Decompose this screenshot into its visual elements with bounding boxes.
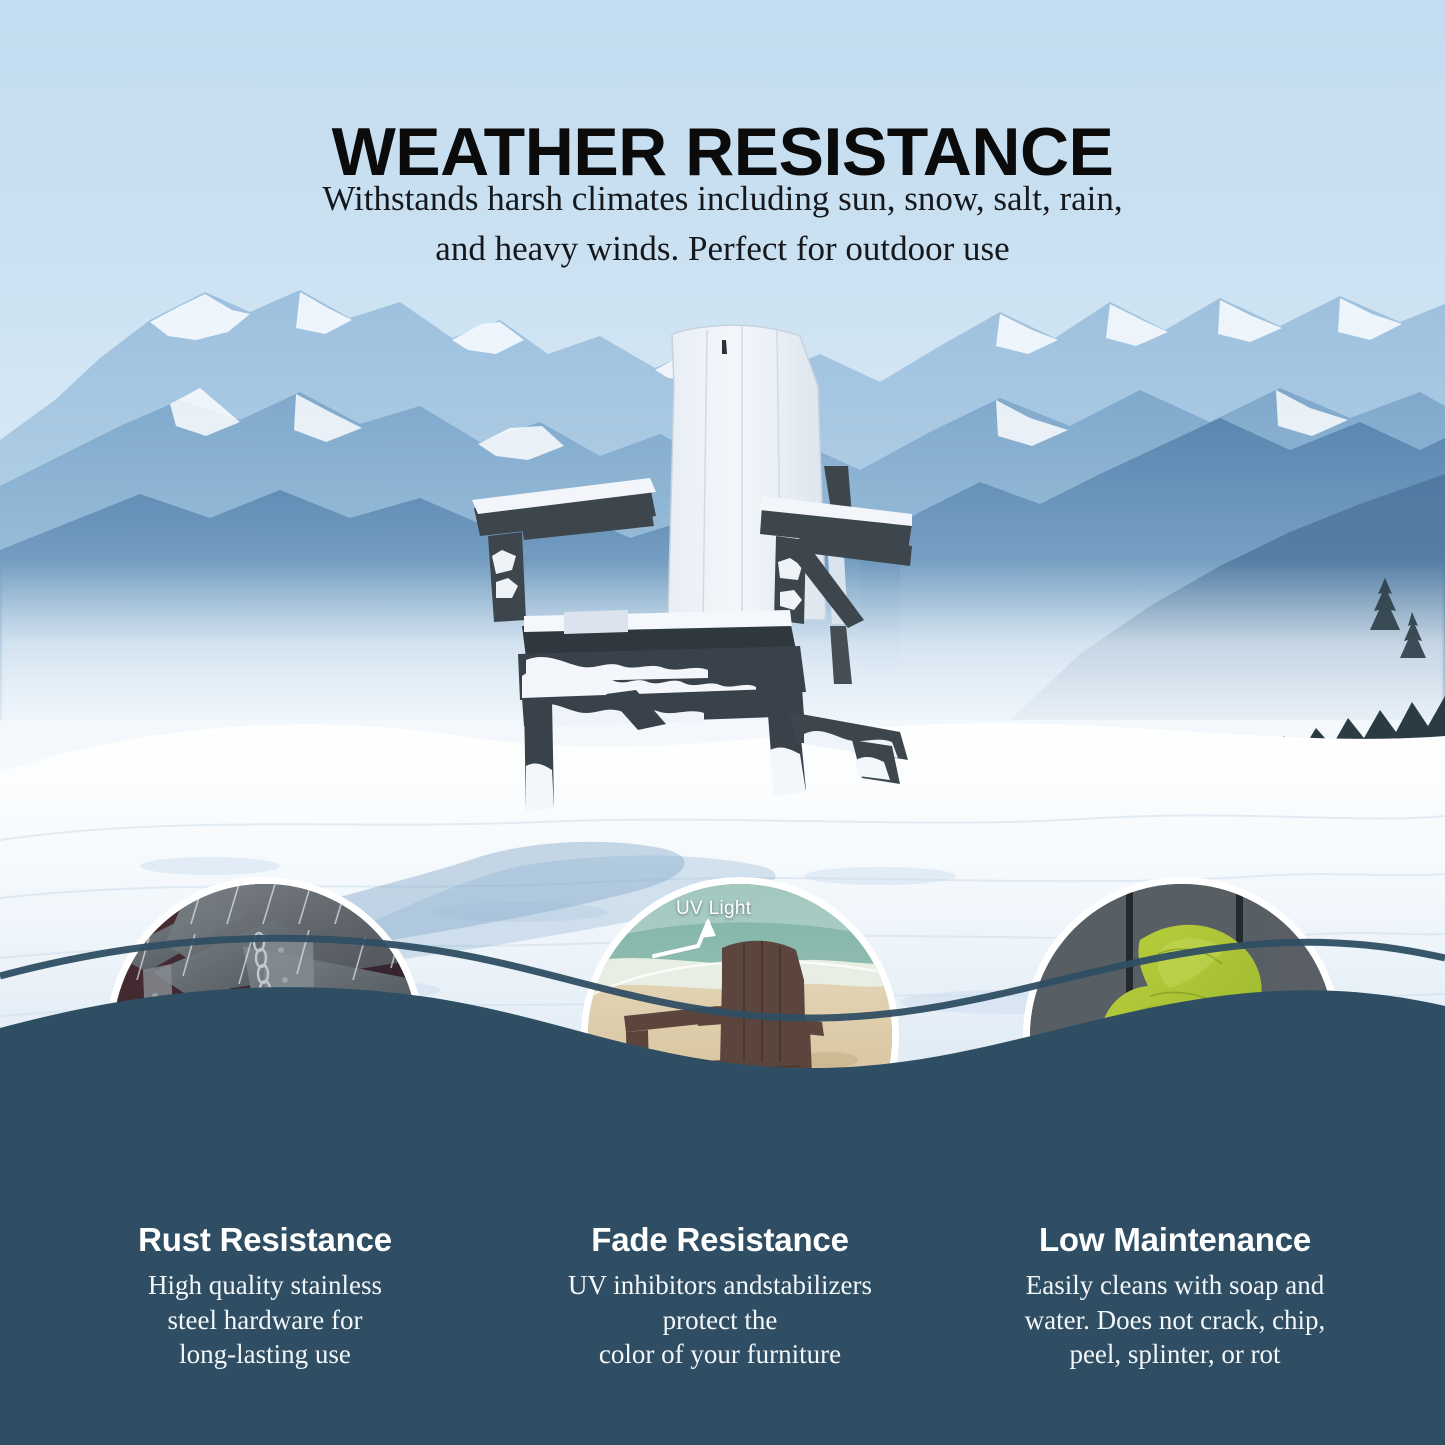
feature-card-fade-resistance: Fade Resistance UV inhibitors andstabili… xyxy=(510,1222,930,1372)
feature-title: Fade Resistance xyxy=(510,1222,930,1258)
uv-light-arrow-icon xyxy=(650,912,730,977)
feature-description: High quality stainless steel hardware fo… xyxy=(55,1268,475,1372)
feature-description-line-3: color of your furniture xyxy=(510,1337,930,1372)
page-subtitle: Withstands harsh climates including sun,… xyxy=(0,174,1445,273)
feature-description-line-3: peel, splinter, or rot xyxy=(965,1337,1385,1372)
subtitle-line-2: and heavy winds. Perfect for outdoor use xyxy=(0,224,1445,274)
feature-description-line-1: UV inhibitors andstabilizers xyxy=(510,1268,930,1303)
feature-description: UV inhibitors andstabilizers protect the… xyxy=(510,1268,930,1372)
infographic-canvas: UV Light xyxy=(0,0,1445,1445)
subtitle-line-1: Withstands harsh climates including sun,… xyxy=(0,174,1445,224)
feature-card-rust-resistance: Rust Resistance High quality stainless s… xyxy=(55,1222,475,1372)
snow-covered-adirondack-chair xyxy=(460,320,950,850)
feature-description-line-2: steel hardware for xyxy=(55,1303,475,1338)
feature-description-line-1: High quality stainless xyxy=(55,1268,475,1303)
feature-card-low-maintenance: Low Maintenance Easily cleans with soap … xyxy=(965,1222,1385,1372)
feature-description: Easily cleans with soap and water. Does … xyxy=(965,1268,1385,1372)
feature-title: Low Maintenance xyxy=(965,1222,1385,1258)
feature-description-line-3: long-lasting use xyxy=(55,1337,475,1372)
feature-description-line-1: Easily cleans with soap and xyxy=(965,1268,1385,1303)
feature-title: Rust Resistance xyxy=(55,1222,475,1258)
feature-description-line-2: water. Does not crack, chip, xyxy=(965,1303,1385,1338)
feature-description-line-2: protect the xyxy=(510,1303,930,1338)
